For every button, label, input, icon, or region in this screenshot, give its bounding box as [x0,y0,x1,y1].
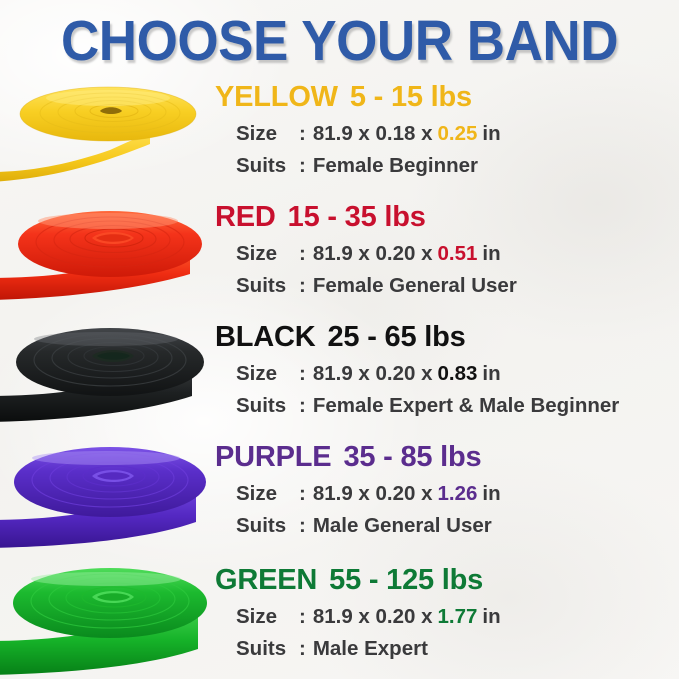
size-colon: : [299,607,313,628]
suits-value-black: Female Expert & Male Beginner [313,396,619,417]
suits-value-green: Male Expert [313,639,428,660]
size-label: Size [236,484,299,505]
size-line-black: Size : 81.9 x 0.20 x 0.83 in [236,364,679,385]
size-prefix-red: 81.9 x 0.20 x [313,244,433,265]
suits-colon: : [299,396,313,417]
size-line-purple: Size : 81.9 x 0.20 x 1.26 in [236,484,679,505]
title-bar: CHOOSE YOUR BAND [0,6,679,76]
suits-colon: : [299,516,313,537]
band-row-black: BLACK25 - 65 lbs Size : 81.9 x 0.20 x 0.… [0,322,679,440]
purple-band-text: PURPLE35 - 85 lbs Size : 81.9 x 0.20 x 1… [215,442,679,536]
band-range-red: 15 - 35 lbs [288,201,426,233]
band-range-black: 25 - 65 lbs [328,321,466,353]
thickness-black: 0.83 [433,364,483,385]
suits-line-yellow: Suits : Female Beginner [236,156,679,177]
band-heading-purple: PURPLE35 - 85 lbs [215,442,679,472]
purple-resistance-band-coil [0,442,215,560]
thickness-yellow: 0.25 [433,124,483,145]
size-colon: : [299,484,313,505]
band-name-green: GREEN [215,564,317,596]
size-prefix-yellow: 81.9 x 0.18 x [313,124,433,145]
size-unit: in [482,607,500,628]
band-row-red: RED15 - 35 lbs Size : 81.9 x 0.20 x 0.51… [0,202,679,320]
red-band-text: RED15 - 35 lbs Size : 81.9 x 0.20 x 0.51… [215,202,679,296]
band-row-yellow: YELLOW5 - 15 lbs Size : 81.9 x 0.18 x 0.… [0,82,679,200]
band-name-red: RED [215,201,276,233]
band-range-purple: 35 - 85 lbs [343,441,481,473]
black-band-text: BLACK25 - 65 lbs Size : 81.9 x 0.20 x 0.… [215,322,679,416]
suits-label: Suits [236,396,299,417]
size-line-green: Size : 81.9 x 0.20 x 1.77 in [236,607,679,628]
thickness-red: 0.51 [433,244,483,265]
band-heading-red: RED15 - 35 lbs [215,202,679,232]
page-title: CHOOSE YOUR BAND [61,13,618,70]
suits-colon: : [299,276,313,297]
suits-value-red: Female General User [313,276,517,297]
suits-label: Suits [236,639,299,660]
size-line-yellow: Size : 81.9 x 0.18 x 0.25 in [236,124,679,145]
suits-line-black: Suits : Female Expert & Male Beginner [236,396,679,417]
choose-your-band-infographic: CHOOSE YOUR BAND [0,0,679,679]
size-unit: in [482,484,500,505]
size-line-red: Size : 81.9 x 0.20 x 0.51 in [236,244,679,265]
band-heading-black: BLACK25 - 65 lbs [215,322,679,352]
size-label: Size [236,124,299,145]
suits-value-purple: Male General User [313,516,492,537]
size-colon: : [299,364,313,385]
band-name-purple: PURPLE [215,441,331,473]
size-unit: in [482,244,500,265]
suits-line-purple: Suits : Male General User [236,516,679,537]
band-heading-green: GREEN55 - 125 lbs [215,565,679,595]
size-unit: in [482,124,500,145]
suits-colon: : [299,639,313,660]
suits-line-red: Suits : Female General User [236,276,679,297]
band-range-green: 55 - 125 lbs [329,564,483,596]
suits-value-yellow: Female Beginner [313,156,478,177]
band-name-yellow: YELLOW [215,81,338,113]
suits-label: Suits [236,276,299,297]
size-prefix-green: 81.9 x 0.20 x [313,607,433,628]
black-resistance-band-coil [0,322,215,436]
thickness-purple: 1.26 [433,484,483,505]
suits-label: Suits [236,156,299,177]
size-unit: in [482,364,500,385]
band-heading-yellow: YELLOW5 - 15 lbs [215,82,679,112]
size-colon: : [299,244,313,265]
size-prefix-black: 81.9 x 0.20 x [313,364,433,385]
size-label: Size [236,244,299,265]
red-resistance-band-coil [0,202,215,314]
size-label: Size [236,364,299,385]
suits-label: Suits [236,516,299,537]
size-label: Size [236,607,299,628]
yellow-resistance-band-coil [0,80,215,190]
band-row-purple: PURPLE35 - 85 lbs Size : 81.9 x 0.20 x 1… [0,442,679,562]
green-band-text: GREEN55 - 125 lbs Size : 81.9 x 0.20 x 1… [215,565,679,659]
band-range-yellow: 5 - 15 lbs [350,81,472,113]
yellow-band-text: YELLOW5 - 15 lbs Size : 81.9 x 0.18 x 0.… [215,82,679,176]
green-resistance-band-coil [0,565,215,679]
band-name-black: BLACK [215,321,316,353]
thickness-green: 1.77 [433,607,483,628]
suits-colon: : [299,156,313,177]
band-row-green: GREEN55 - 125 lbs Size : 81.9 x 0.20 x 1… [0,565,679,679]
size-colon: : [299,124,313,145]
suits-line-green: Suits : Male Expert [236,639,679,660]
size-prefix-purple: 81.9 x 0.20 x [313,484,433,505]
